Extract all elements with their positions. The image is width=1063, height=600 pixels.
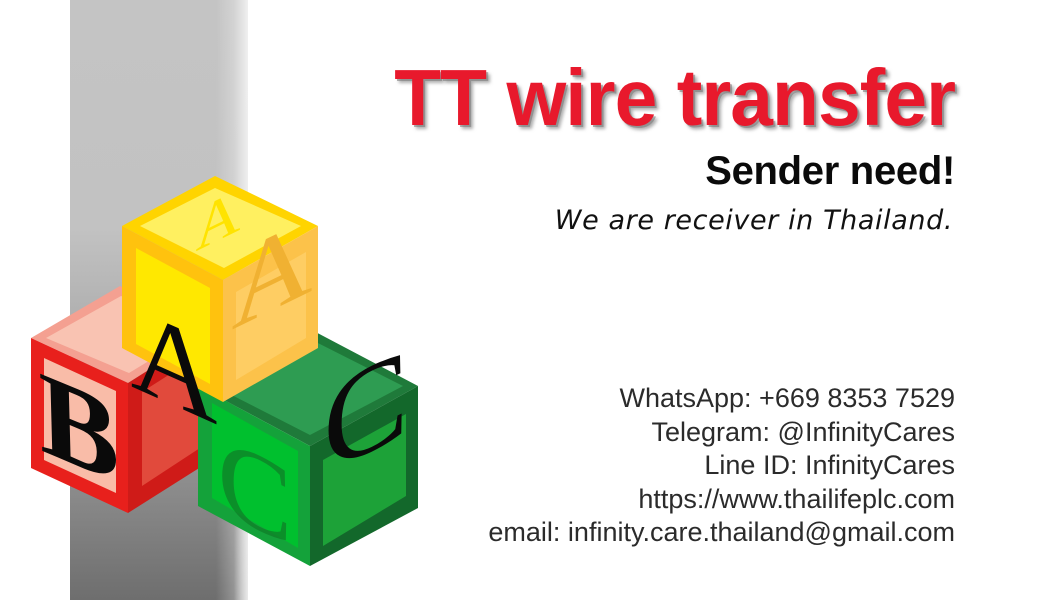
page-title: TT wire transfer [283, 58, 955, 138]
promo-card: B C C [0, 0, 1063, 600]
subtitle: Sender need! [255, 148, 955, 194]
tagline: We are receiver in Thailand. [253, 203, 953, 238]
contact-email[interactable]: email: infinity.care.thailand@gmail.com [255, 516, 955, 550]
contact-website[interactable]: https://www.thailifeplc.com [255, 483, 955, 517]
contact-telegram[interactable]: Telegram: @InfinityCares [255, 416, 955, 450]
contact-list: WhatsApp: +669 8353 7529 Telegram: @Infi… [255, 382, 955, 550]
contact-line-id[interactable]: Line ID: InfinityCares [255, 449, 955, 483]
contact-whatsapp[interactable]: WhatsApp: +669 8353 7529 [255, 382, 955, 416]
